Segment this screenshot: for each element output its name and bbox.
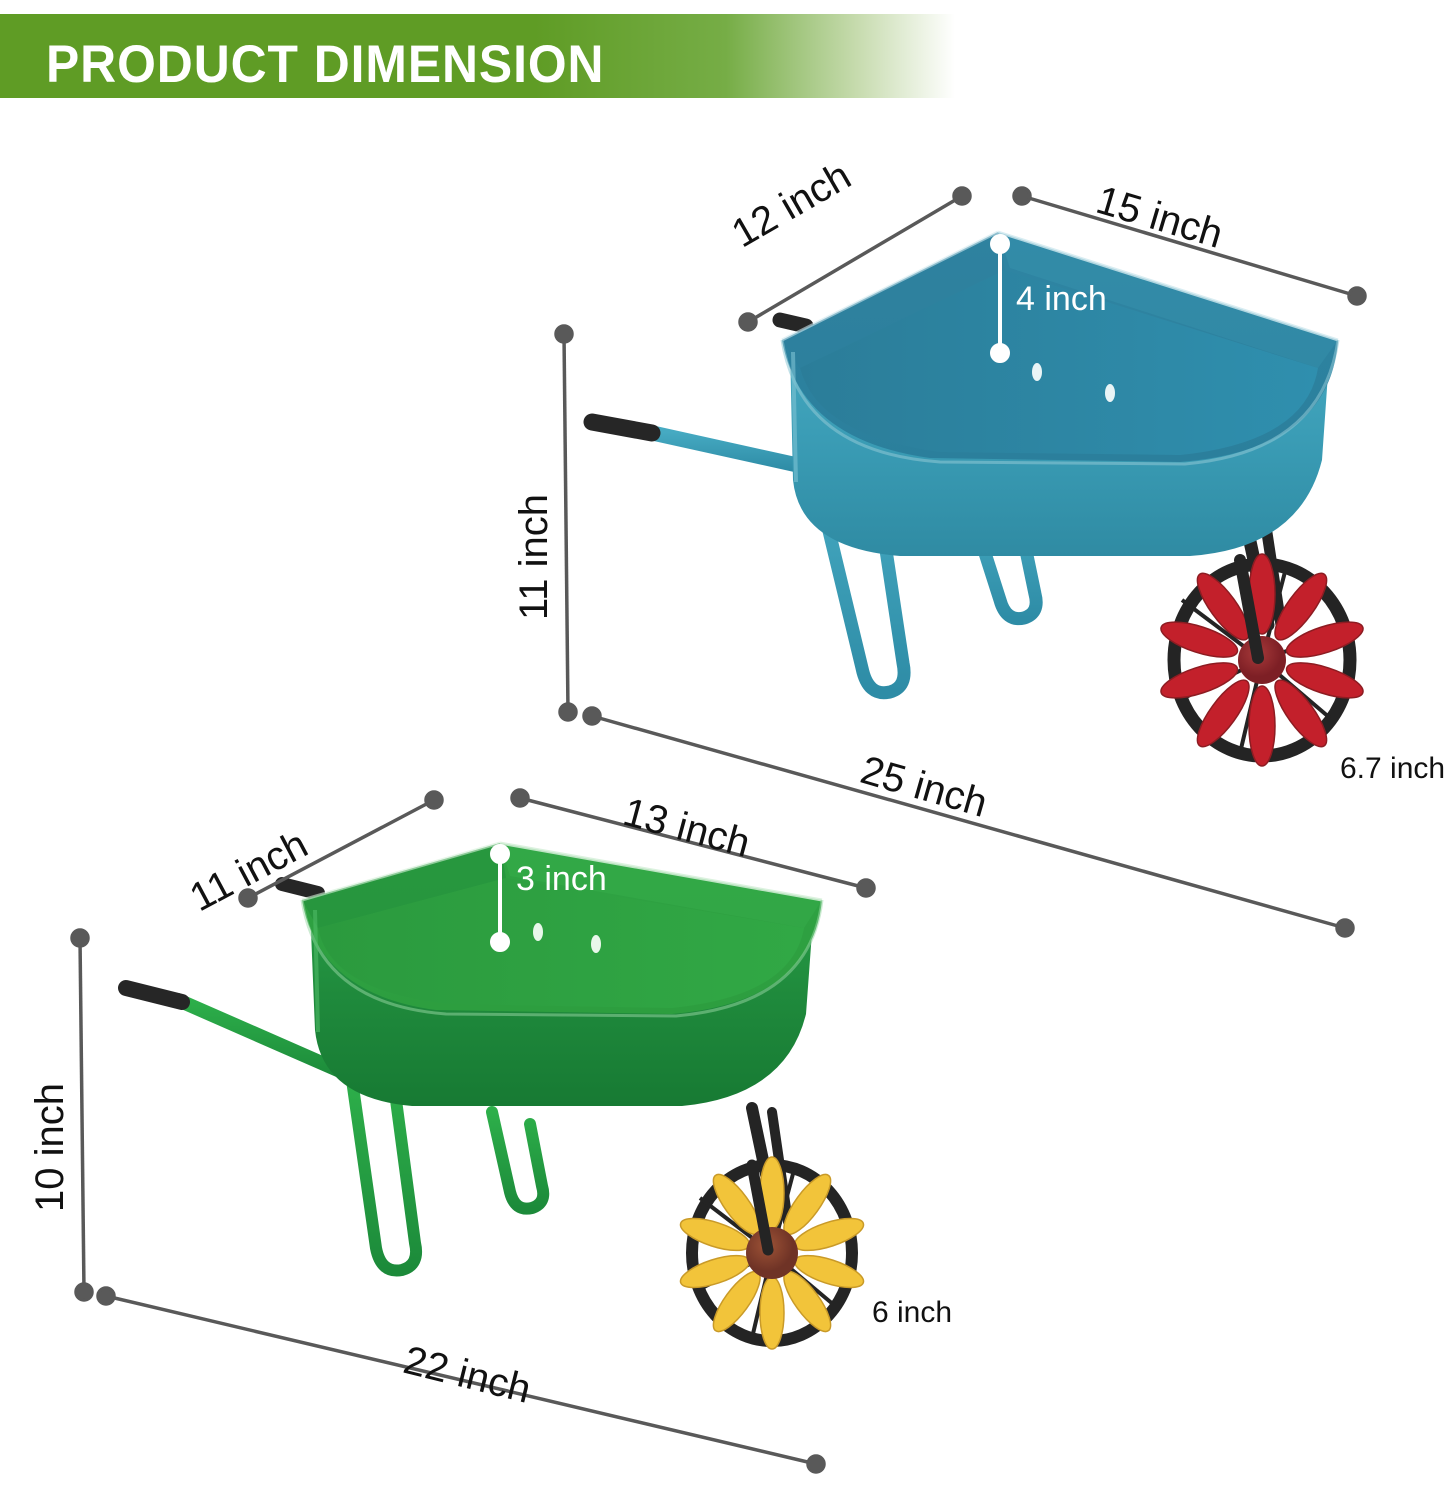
blue-wheelbarrow-planter — [592, 232, 1367, 766]
diagram-canvas — [0, 0, 1455, 1500]
blue-dim-label-4inch: 4 inch — [1016, 280, 1107, 319]
blue-handle — [592, 422, 820, 470]
green-dim-label-6inch: 6 inch — [872, 1296, 952, 1330]
blue-handle-grip — [592, 422, 652, 433]
green-handle-grip — [126, 988, 182, 1002]
green-handle-grip-rear — [282, 884, 318, 893]
green-dim-label-10inch: 10 inch — [28, 1083, 73, 1212]
green-legs — [352, 1080, 543, 1271]
blue-dim-label-6.7inch: 6.7 inch — [1340, 752, 1445, 786]
blue-handle-grip-rear — [780, 320, 806, 326]
green-dim-label-3inch: 3 inch — [516, 860, 607, 899]
green-wheelbarrow-planter — [126, 843, 867, 1349]
product-dimension-page: PRODUCT DIMENSION — [0, 0, 1455, 1500]
blue-dim-label-11inch: 11 inch — [512, 494, 557, 620]
green-wheel — [677, 1108, 867, 1349]
